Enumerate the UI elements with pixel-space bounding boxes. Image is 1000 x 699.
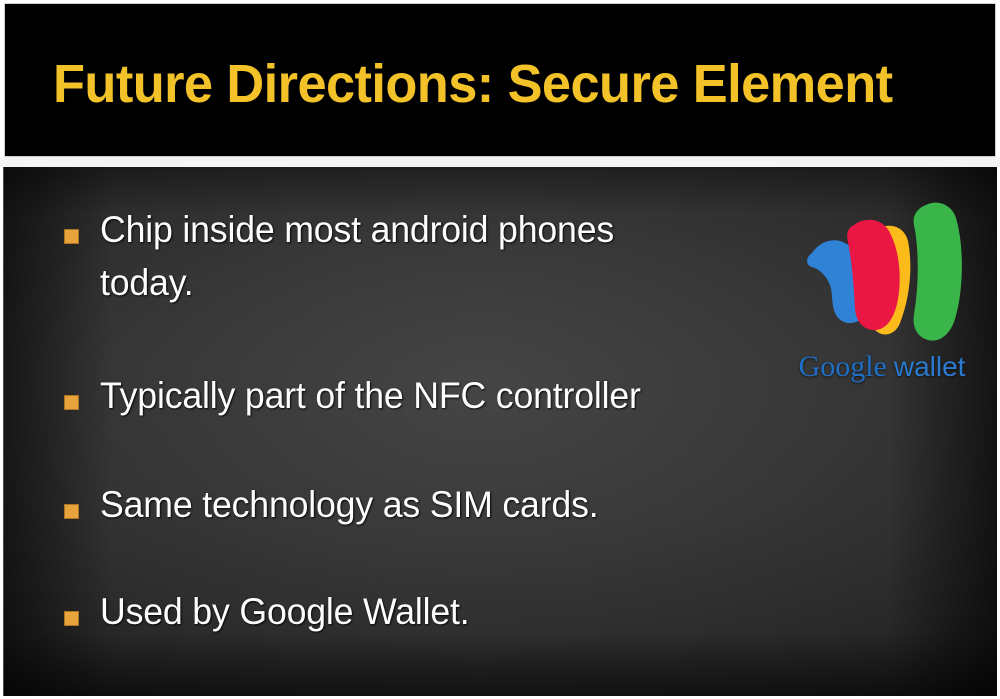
list-item: Used by Google Wallet. bbox=[64, 585, 764, 638]
title-body-separator bbox=[0, 157, 1000, 167]
bullet-square-icon bbox=[64, 611, 79, 626]
bullet-square-icon bbox=[64, 229, 79, 244]
bullet-square-icon bbox=[64, 504, 79, 519]
list-item: Chip inside most android phones today. bbox=[64, 203, 764, 309]
bullet-text: Typically part of the NFC controller bbox=[100, 369, 741, 422]
bullet-square-icon bbox=[64, 395, 79, 410]
google-wallet-mark-icon bbox=[790, 197, 975, 347]
slide-body: Chip inside most android phones today. T… bbox=[3, 167, 997, 696]
google-wallet-wordmark: Googlewallet bbox=[782, 350, 982, 384]
list-item: Same technology as SIM cards. bbox=[64, 478, 764, 531]
bullet-text: Chip inside most android phones today. bbox=[100, 203, 741, 309]
presentation-slide: Future Directions: Secure Element Chip i… bbox=[0, 0, 1000, 699]
wordmark-google: Google bbox=[799, 350, 887, 383]
bullet-text: Same technology as SIM cards. bbox=[100, 478, 741, 531]
bullet-text: Used by Google Wallet. bbox=[100, 585, 741, 638]
wordmark-wallet: wallet bbox=[894, 351, 966, 382]
slide-title: Future Directions: Secure Element bbox=[53, 54, 957, 114]
slide-title-bar: Future Directions: Secure Element bbox=[4, 3, 996, 157]
google-wallet-logo: Googlewallet bbox=[782, 197, 982, 397]
list-item: Typically part of the NFC controller bbox=[64, 369, 764, 422]
